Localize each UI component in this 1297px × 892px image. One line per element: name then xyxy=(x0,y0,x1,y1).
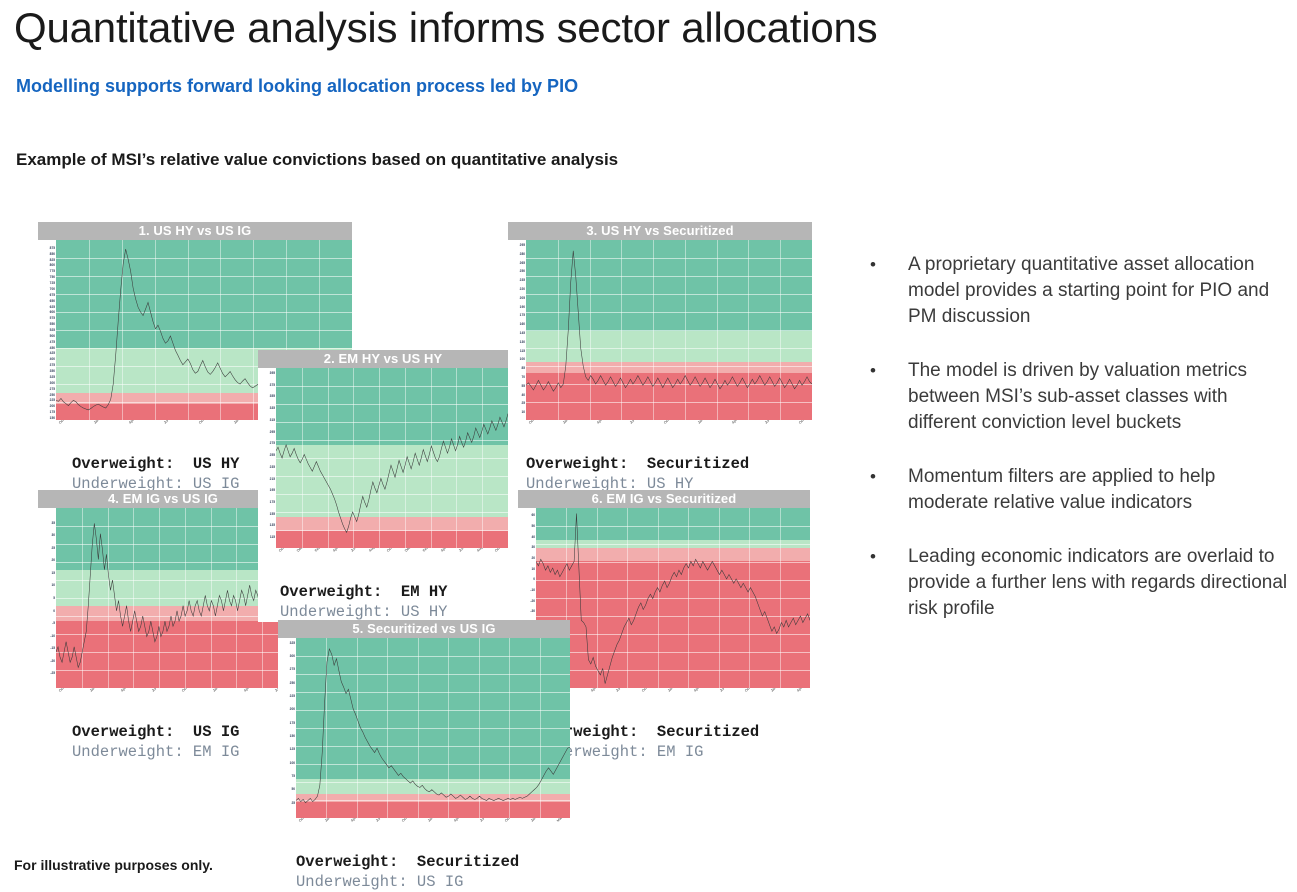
chart-panel-2[interactable]: 2. EM HY vs US HY39537535533531529527525… xyxy=(258,350,508,622)
y-tick-label: 650 xyxy=(50,300,55,303)
x-tick-label: Apr 2020 xyxy=(120,688,133,693)
bullet-text: A proprietary quantitative asset allocat… xyxy=(908,252,1297,330)
bullet-item: •A proprietary quantitative asset alloca… xyxy=(862,252,1297,330)
x-axis: Oct 2019Jan 2020Apr 2020Jul 2020Oct 2020… xyxy=(278,818,570,848)
y-tick-label: 315 xyxy=(270,419,275,422)
x-tick-label: Oct 2019 xyxy=(298,818,311,823)
y-tick-label: 100 xyxy=(520,358,525,361)
y-axis: 35302520151050-5-10-15-20-25 xyxy=(38,508,56,688)
y-tick-label: 0 xyxy=(533,578,535,581)
x-tick-label: Oct 2020 xyxy=(386,548,399,553)
x-tick-label: Oct 2019 xyxy=(58,420,71,425)
y-tick-label: 75 xyxy=(291,775,295,778)
y-tick-label: 40 xyxy=(521,394,525,397)
y-tick-label: 55 xyxy=(521,385,525,388)
x-tick-label: Jan 2021 xyxy=(233,420,246,425)
x-tick-label: Oct 2019 xyxy=(58,688,71,693)
y-tick-label: 220 xyxy=(520,288,525,291)
y-tick-label: 30 xyxy=(51,534,55,537)
x-tick-label: Jan 2022 xyxy=(770,688,783,693)
y-tick-label: 20 xyxy=(531,557,535,560)
y-tick-label: 325 xyxy=(50,376,55,379)
y-tick-label: 235 xyxy=(520,279,525,282)
y-tick-label: 625 xyxy=(50,306,55,309)
x-tick-label: Oct 2019 xyxy=(528,420,541,425)
y-tick-label: 175 xyxy=(520,314,525,317)
y-tick-label: 375 xyxy=(50,364,55,367)
series-line xyxy=(536,508,810,688)
bullet-list: •A proprietary quantitative asset alloca… xyxy=(862,252,1297,650)
y-tick-label: 275 xyxy=(270,442,275,445)
y-tick-label: 225 xyxy=(290,695,295,698)
y-tick-label: 675 xyxy=(50,294,55,297)
x-tick-label: Feb 2020 xyxy=(314,548,328,553)
x-tick-label: Jul 2020 xyxy=(629,420,641,425)
y-tick-label: 115 xyxy=(520,350,525,353)
y-tick-label: 100 xyxy=(290,762,295,765)
y-tick-label: 20 xyxy=(51,559,55,562)
x-tick-label: Apr 2020 xyxy=(590,688,603,693)
bullet-marker-icon: • xyxy=(862,252,908,330)
y-tick-label: -15 xyxy=(50,647,55,650)
bullet-text: Leading economic indicators are overlaid… xyxy=(908,544,1297,622)
y-tick-label: -5 xyxy=(52,622,55,625)
y-tick-label: 750 xyxy=(50,276,55,279)
y-tick-label: 235 xyxy=(270,466,275,469)
overweight-label: Overweight: US IG xyxy=(72,722,288,742)
y-tick-label: -20 xyxy=(530,600,535,603)
y-tick-label: 295 xyxy=(270,431,275,434)
plot-canvas xyxy=(56,508,288,688)
chart-caption: Overweight: EM HYUnderweight: US HY xyxy=(258,578,508,622)
y-tick-label: 825 xyxy=(50,259,55,262)
plot-canvas xyxy=(296,638,570,818)
y-tick-label: 225 xyxy=(50,399,55,402)
y-tick-label: 10 xyxy=(531,568,535,571)
x-axis: Oct 2019Dec 2019Feb 2020Apr 2020Jun 2020… xyxy=(258,548,508,578)
y-tick-label: -10 xyxy=(50,635,55,638)
x-tick-label: Oct 2021 xyxy=(504,818,517,823)
x-tick-label: Jul 2020 xyxy=(163,420,175,425)
plot-canvas xyxy=(526,240,812,420)
footnote: For illustrative purposes only. xyxy=(14,857,213,873)
series-line xyxy=(296,638,570,818)
x-tick-label: Jul 2020 xyxy=(151,688,163,693)
y-tick-label: 25 xyxy=(51,547,55,550)
x-tick-label: Jan 2020 xyxy=(89,688,102,693)
y-tick-label: 350 xyxy=(50,370,55,373)
x-tick-label: Jan 2020 xyxy=(93,420,106,425)
plot-canvas xyxy=(276,368,508,548)
slide-canvas: Quantitative analysis informs sector all… xyxy=(0,0,1297,889)
overweight-label: Overweight: Securitized xyxy=(536,722,810,742)
y-tick-label: 575 xyxy=(50,317,55,320)
y-tick-label: 30 xyxy=(531,546,535,549)
series-line xyxy=(56,508,288,688)
chart-caption: Overweight: SecuritizedUnderweight: US H… xyxy=(508,450,812,494)
overweight-label: Overweight: Securitized xyxy=(296,852,570,872)
x-tick-label: Apr 2022 xyxy=(796,688,809,693)
y-tick-label: 10 xyxy=(521,411,525,414)
y-tick-label: 175 xyxy=(50,411,55,414)
y-tick-label: 205 xyxy=(520,297,525,300)
section-heading: Example of MSI’s relative value convicti… xyxy=(16,150,618,170)
x-tick-label: Oct 2019 xyxy=(278,548,291,553)
y-tick-label: 850 xyxy=(50,253,55,256)
y-tick-label: 300 xyxy=(50,382,55,385)
y-tick-label: 500 xyxy=(50,335,55,338)
y-tick-label: 135 xyxy=(270,524,275,527)
x-tick-label: Dec 2019 xyxy=(296,548,310,553)
x-tick-label: Mar 2022 xyxy=(556,818,570,823)
x-tick-label: Oct 2020 xyxy=(663,420,676,425)
x-tick-label: Apr 2020 xyxy=(332,548,345,553)
x-tick-label: Jul 2021 xyxy=(479,818,491,823)
y-tick-label: -30 xyxy=(530,610,535,613)
y-axis: 2952802652502352202051901751601451301151… xyxy=(508,240,526,420)
x-tick-label: Jan 2021 xyxy=(427,818,440,823)
y-tick-label: 425 xyxy=(50,352,55,355)
x-tick-label: Oct 2021 xyxy=(744,688,757,693)
y-tick-label: 450 xyxy=(50,347,55,350)
underweight-label: Underweight: US IG xyxy=(296,872,570,892)
y-tick-label: 145 xyxy=(520,332,525,335)
x-tick-label: Apr 2020 xyxy=(596,420,609,425)
y-tick-label: 400 xyxy=(50,358,55,361)
underweight-label: Underweight: EM IG xyxy=(536,742,810,762)
x-tick-label: Jan 2020 xyxy=(562,420,575,425)
bullet-text: The model is driven by valuation metrics… xyxy=(908,358,1297,436)
y-tick-label: 525 xyxy=(50,329,55,332)
x-tick-label: Jan 2020 xyxy=(324,818,337,823)
chart-panel-3[interactable]: 3. US HY vs Securitized29528026525023522… xyxy=(508,222,812,494)
chart-title: 4. EM IG vs US IG xyxy=(38,490,288,508)
series-line xyxy=(526,240,812,420)
x-tick-label: Oct 2020 xyxy=(641,688,654,693)
bullet-marker-icon: • xyxy=(862,358,908,436)
chart-panel-4[interactable]: 4. EM IG vs US IG35302520151050-5-10-15-… xyxy=(38,490,288,762)
x-axis: Oct 2019Jan 2020Apr 2020Jul 2020Oct 2020… xyxy=(38,688,288,718)
plot-canvas xyxy=(536,508,810,688)
y-tick-label: 10 xyxy=(51,584,55,587)
y-axis: 8758508258007757507257006756506256005755… xyxy=(38,240,56,420)
y-tick-label: 295 xyxy=(520,244,525,247)
y-tick-label: 115 xyxy=(270,536,275,539)
x-tick-label: Apr 2020 xyxy=(128,420,141,425)
underweight-label: Underweight: EM IG xyxy=(72,742,288,762)
y-tick-label: 700 xyxy=(50,288,55,291)
y-tick-label: 265 xyxy=(520,262,525,265)
x-tick-label: Apr 2021 xyxy=(440,548,453,553)
y-tick-label: 200 xyxy=(50,405,55,408)
x-tick-label: Apr 2021 xyxy=(243,688,256,693)
chart-panel-5[interactable]: 5. Securitized vs US IG32530027525022520… xyxy=(278,620,570,892)
y-tick-label: 190 xyxy=(520,306,525,309)
x-tick-label: Apr 2021 xyxy=(731,420,744,425)
x-tick-label: Jan 2022 xyxy=(530,818,543,823)
y-tick-label: 50 xyxy=(531,525,535,528)
x-tick-label: Jul 2021 xyxy=(764,420,776,425)
y-tick-label: 775 xyxy=(50,270,55,273)
y-tick-label: 475 xyxy=(50,341,55,344)
y-tick-label: 15 xyxy=(51,572,55,575)
bullet-marker-icon: • xyxy=(862,464,908,516)
x-tick-label: Jan 2021 xyxy=(697,420,710,425)
y-tick-label: 250 xyxy=(50,394,55,397)
chart-caption: Overweight: SecuritizedUnderweight: US I… xyxy=(278,848,570,892)
y-tick-label: 375 xyxy=(270,384,275,387)
y-axis: 325300275250225200175150125100755025 xyxy=(278,638,296,818)
y-tick-label: 0 xyxy=(53,610,55,613)
y-tick-label: 195 xyxy=(270,489,275,492)
y-tick-label: 325 xyxy=(290,642,295,645)
bullet-marker-icon: • xyxy=(862,544,908,622)
y-tick-label: -10 xyxy=(530,589,535,592)
x-tick-label: Oct 2020 xyxy=(401,818,414,823)
y-tick-label: 200 xyxy=(290,708,295,711)
y-tick-label: 600 xyxy=(50,311,55,314)
x-tick-label: Dec 2020 xyxy=(404,548,418,553)
overweight-label: Overweight: EM HY xyxy=(280,582,508,602)
x-tick-label: Jun 2021 xyxy=(458,548,471,553)
y-tick-label: 875 xyxy=(50,247,55,250)
series-line xyxy=(276,368,508,548)
y-tick-label: 275 xyxy=(290,668,295,671)
x-tick-label: Aug 2020 xyxy=(368,548,382,553)
x-axis: Oct 2019Jan 2020Apr 2020Jul 2020Oct 2020… xyxy=(508,420,812,450)
y-tick-label: 40 xyxy=(531,536,535,539)
x-tick-label: Jul 2020 xyxy=(615,688,627,693)
y-tick-label: 280 xyxy=(520,253,525,256)
y-tick-label: 125 xyxy=(290,748,295,751)
y-tick-label: 275 xyxy=(50,388,55,391)
bullet-item: •The model is driven by valuation metric… xyxy=(862,358,1297,436)
y-tick-label: 335 xyxy=(270,407,275,410)
x-tick-label: Jul 2020 xyxy=(375,818,387,823)
y-tick-label: 175 xyxy=(270,501,275,504)
y-tick-label: 175 xyxy=(290,722,295,725)
y-tick-label: -20 xyxy=(50,660,55,663)
y-axis: 3953753553353152952752552352151951751551… xyxy=(258,368,276,548)
x-tick-label: Jan 2021 xyxy=(212,688,225,693)
x-tick-label: Jun 2020 xyxy=(350,548,363,553)
y-tick-label: 60 xyxy=(531,514,535,517)
y-tick-label: 155 xyxy=(270,513,275,516)
x-tick-label: Aug 2021 xyxy=(476,548,490,553)
y-tick-label: 395 xyxy=(270,372,275,375)
y-tick-label: 250 xyxy=(290,682,295,685)
chart-title: 5. Securitized vs US IG xyxy=(278,620,570,638)
y-tick-label: 25 xyxy=(291,802,295,805)
plot-area: 3953753553353152952752552352151951751551… xyxy=(258,368,508,548)
page-title: Quantitative analysis informs sector all… xyxy=(14,4,1114,52)
chart-title: 1. US HY vs US IG xyxy=(38,222,352,240)
x-tick-label: Jan 2021 xyxy=(667,688,680,693)
x-tick-label: Jul 2021 xyxy=(719,688,731,693)
x-tick-label: Apr 2021 xyxy=(693,688,706,693)
y-tick-label: 300 xyxy=(290,655,295,658)
y-tick-label: 215 xyxy=(270,478,275,481)
x-tick-label: Oct 2021 xyxy=(798,420,811,425)
chart-title: 3. US HY vs Securitized xyxy=(508,222,812,240)
y-tick-label: 5 xyxy=(53,597,55,600)
y-tick-label: 150 xyxy=(290,735,295,738)
x-tick-label: Oct 2021 xyxy=(494,548,507,553)
plot-area: 325300275250225200175150125100755025 xyxy=(278,638,570,818)
overweight-label: Overweight: Securitized xyxy=(526,454,812,474)
x-tick-label: Oct 2020 xyxy=(181,688,194,693)
underweight-label: Underweight: US HY xyxy=(280,602,508,622)
y-tick-label: 50 xyxy=(291,788,295,791)
y-tick-label: 550 xyxy=(50,323,55,326)
x-tick-label: Feb 2021 xyxy=(422,548,436,553)
bullet-text: Momentum filters are applied to help mod… xyxy=(908,464,1297,516)
y-tick-label: -25 xyxy=(50,672,55,675)
y-tick-label: 25 xyxy=(521,402,525,405)
y-tick-label: 160 xyxy=(520,323,525,326)
x-tick-label: Oct 2020 xyxy=(198,420,211,425)
y-tick-label: 85 xyxy=(521,367,525,370)
y-tick-label: 255 xyxy=(270,454,275,457)
y-tick-label: 130 xyxy=(520,341,525,344)
y-tick-label: 800 xyxy=(50,264,55,267)
chart-title: 2. EM HY vs US HY xyxy=(258,350,508,368)
y-tick-label: 35 xyxy=(51,522,55,525)
bullet-item: •Momentum filters are applied to help mo… xyxy=(862,464,1297,516)
bullet-item: •Leading economic indicators are overlai… xyxy=(862,544,1297,622)
y-tick-label: 725 xyxy=(50,282,55,285)
x-tick-label: Apr 2021 xyxy=(453,818,466,823)
y-tick-label: 70 xyxy=(521,376,525,379)
y-tick-label: 355 xyxy=(270,395,275,398)
y-tick-label: 250 xyxy=(520,270,525,273)
chart-title: 6. EM IG vs Securitized xyxy=(518,490,810,508)
chart-caption: Overweight: US IGUnderweight: EM IG xyxy=(38,718,288,762)
x-tick-label: Apr 2020 xyxy=(350,818,363,823)
plot-area: 35302520151050-5-10-15-20-25 xyxy=(38,508,288,688)
page-subtitle: Modelling supports forward looking alloc… xyxy=(16,76,578,97)
plot-area: 2952802652502352202051901751601451301151… xyxy=(508,240,812,420)
